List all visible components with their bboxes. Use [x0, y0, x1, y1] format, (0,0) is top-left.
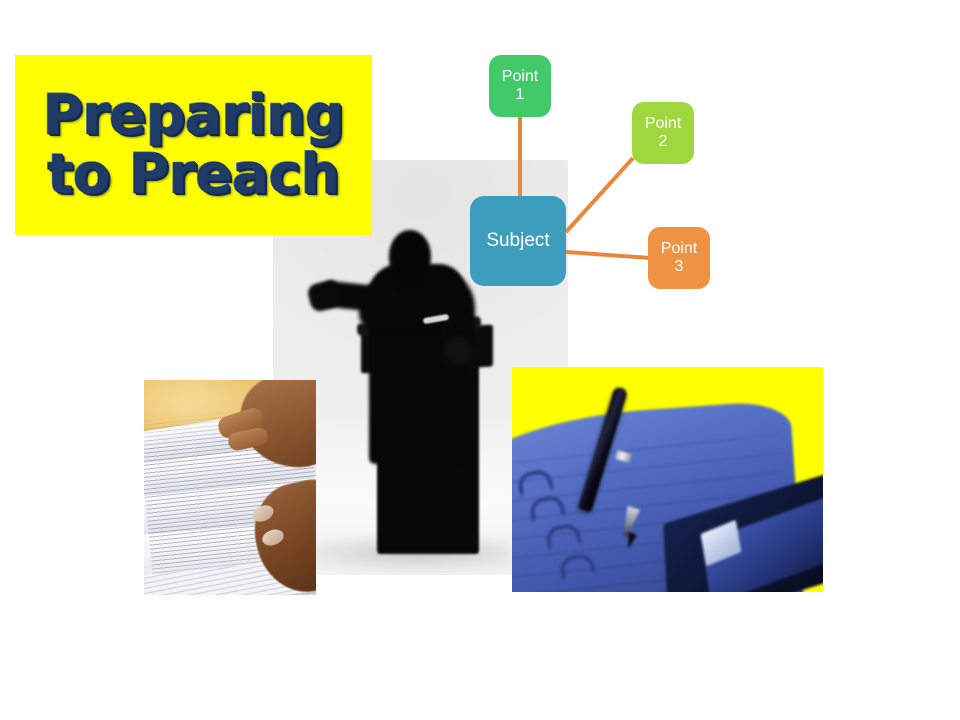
open-bible-photo: [144, 380, 316, 595]
speaker-head: [389, 230, 431, 282]
slide-canvas: Preparing to Preach Subject Point 1 Poin…: [0, 0, 960, 720]
diagram-node-point2-label: Point: [645, 115, 681, 133]
planner-and-pen-photo: [512, 367, 823, 592]
diagram-node-point3-label: Point: [661, 240, 697, 258]
diagram-node-point1-number: 1: [502, 86, 538, 104]
planner-blur-layer: [512, 367, 823, 592]
diagram-node-point3-number: 3: [661, 258, 697, 276]
diagram-node-point3[interactable]: Point 3: [648, 227, 710, 289]
diagram-node-point2-number: 2: [645, 133, 681, 151]
title-line-1: Preparing: [43, 86, 344, 145]
diagram-node-point2[interactable]: Point 2: [632, 102, 694, 164]
diagram-node-subject-label: Subject: [486, 230, 549, 251]
title-line-2: to Preach: [47, 145, 339, 204]
diagram-node-point1-label: Point: [502, 68, 538, 86]
connector-subject-to-point3: [566, 252, 650, 258]
speaker-left-hand: [306, 279, 342, 313]
diagram-node-subject[interactable]: Subject: [470, 196, 566, 286]
diagram-node-point1[interactable]: Point 1: [489, 55, 551, 117]
title-wordart-block: Preparing to Preach: [15, 55, 372, 235]
connector-subject-to-point2: [566, 158, 633, 232]
